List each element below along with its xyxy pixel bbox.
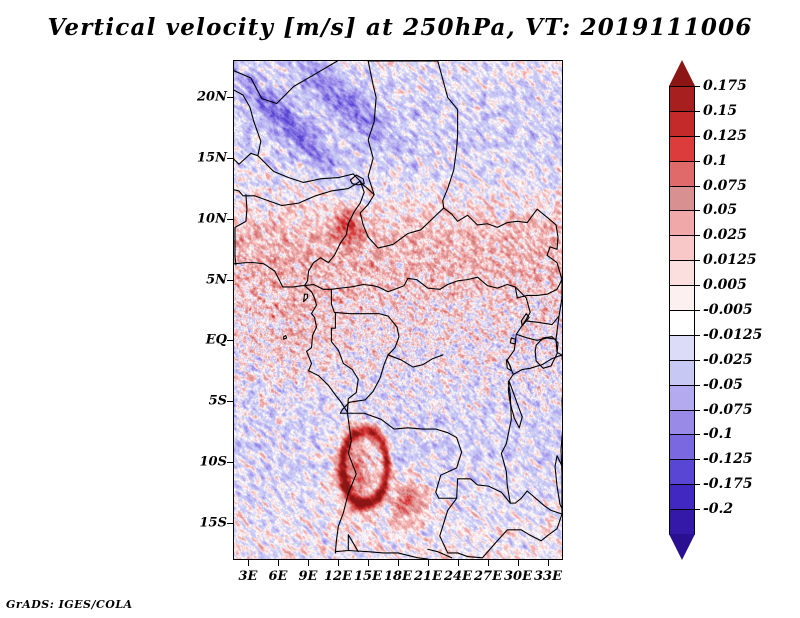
x-axis-label: 15E — [354, 569, 382, 584]
colorbar-band — [669, 285, 695, 311]
colorbar-label: 0.175 — [703, 78, 747, 94]
colorbar-band — [669, 235, 695, 261]
vertical-velocity-field — [234, 61, 562, 559]
colorbar-label: -0.0125 — [703, 327, 762, 343]
colorbar-legend: 0.1750.150.1250.10.0750.050.0250.01250.0… — [669, 60, 695, 560]
x-axis-tick — [368, 560, 369, 566]
x-axis-label: 12E — [324, 569, 352, 584]
colorbar-label: 0.005 — [703, 277, 747, 293]
x-axis-label: 30E — [504, 569, 532, 584]
colorbar-arrow-low — [669, 534, 695, 560]
x-axis-tick — [248, 560, 249, 566]
y-axis-tick — [227, 523, 233, 524]
x-axis-label: 24E — [444, 569, 472, 584]
colorbar-band — [669, 161, 695, 187]
colorbar-band — [669, 509, 695, 535]
colorbar-band — [669, 310, 695, 336]
colorbar-band — [669, 210, 695, 236]
x-axis-tick — [278, 560, 279, 566]
x-axis-tick — [308, 560, 309, 566]
colorbar-band — [669, 385, 695, 411]
y-axis-tick — [227, 340, 233, 341]
x-axis-tick — [548, 560, 549, 566]
x-axis-tick — [428, 560, 429, 566]
y-axis-label: 10S — [185, 455, 227, 470]
x-axis-label: 21E — [414, 569, 442, 584]
colorbar-band — [669, 111, 695, 137]
y-axis-label: 20N — [185, 89, 227, 104]
colorbar-label: -0.025 — [703, 352, 753, 368]
colorbar-band — [669, 434, 695, 460]
x-axis-label: 3E — [239, 569, 258, 584]
colorbar-tick — [695, 360, 700, 361]
colorbar-label: -0.075 — [703, 402, 753, 418]
colorbar-tick — [695, 410, 700, 411]
colorbar-label: 0.075 — [703, 178, 747, 194]
colorbar-tick — [695, 434, 700, 435]
colorbar-label: -0.005 — [703, 302, 753, 318]
colorbar-tick — [695, 161, 700, 162]
colorbar-band — [669, 260, 695, 286]
colorbar-tick — [695, 111, 700, 112]
colorbar-band — [669, 360, 695, 386]
colorbar-label: -0.175 — [703, 476, 753, 492]
colorbar-tick — [695, 385, 700, 386]
colorbar-label: -0.125 — [703, 451, 753, 467]
x-axis-tick — [518, 560, 519, 566]
x-axis-label: 9E — [299, 569, 318, 584]
y-axis-label: 15S — [185, 516, 227, 531]
colorbar-tick — [695, 186, 700, 187]
y-axis-tick — [227, 401, 233, 402]
colorbar-tick — [695, 509, 700, 510]
x-axis-label: 18E — [384, 569, 412, 584]
y-axis-label: 5S — [185, 394, 227, 409]
colorbar-label: -0.05 — [703, 377, 743, 393]
colorbar-tick — [695, 335, 700, 336]
grads-attribution: GrADS: IGES/COLA — [6, 598, 133, 611]
x-axis-tick — [488, 560, 489, 566]
colorbar-band — [669, 86, 695, 112]
x-axis-label: 27E — [474, 569, 502, 584]
colorbar-tick — [695, 285, 700, 286]
colorbar-label: 0.0125 — [703, 252, 757, 268]
x-axis-label: 6E — [269, 569, 288, 584]
colorbar-arrow-high — [669, 60, 695, 86]
colorbar-tick — [695, 459, 700, 460]
colorbar-tick — [695, 235, 700, 236]
map-plot-area — [233, 60, 563, 560]
colorbar-band — [669, 136, 695, 162]
colorbar-tick — [695, 136, 700, 137]
y-axis-label: EQ — [185, 333, 227, 348]
colorbar-tick — [695, 260, 700, 261]
colorbar-label: -0.2 — [703, 501, 733, 517]
colorbar-label: 0.05 — [703, 202, 737, 218]
y-axis-label: 10N — [185, 211, 227, 226]
colorbar-tick — [695, 210, 700, 211]
colorbar-label: 0.125 — [703, 128, 747, 144]
x-axis-tick — [338, 560, 339, 566]
y-axis-tick — [227, 219, 233, 220]
colorbar-tick — [695, 310, 700, 311]
x-axis-tick — [398, 560, 399, 566]
colorbar-label: 0.15 — [703, 103, 737, 119]
x-axis-label: 33E — [534, 569, 562, 584]
y-axis-tick — [227, 97, 233, 98]
y-axis-label: 15N — [185, 150, 227, 165]
y-axis-label: 5N — [185, 272, 227, 287]
colorbar-tick — [695, 484, 700, 485]
colorbar-band — [669, 484, 695, 510]
colorbar-label: -0.1 — [703, 426, 733, 442]
colorbar-tick — [695, 86, 700, 87]
page-title: Vertical velocity [m/s] at 250hPa, VT: 2… — [0, 14, 800, 41]
y-axis-tick — [227, 158, 233, 159]
colorbar-label: 0.1 — [703, 153, 727, 169]
y-axis-tick — [227, 462, 233, 463]
colorbar-band — [669, 410, 695, 436]
y-axis-tick — [227, 280, 233, 281]
x-axis-tick — [458, 560, 459, 566]
colorbar-label: 0.025 — [703, 227, 747, 243]
colorbar-band — [669, 335, 695, 361]
colorbar-band — [669, 186, 695, 212]
colorbar-band — [669, 459, 695, 485]
